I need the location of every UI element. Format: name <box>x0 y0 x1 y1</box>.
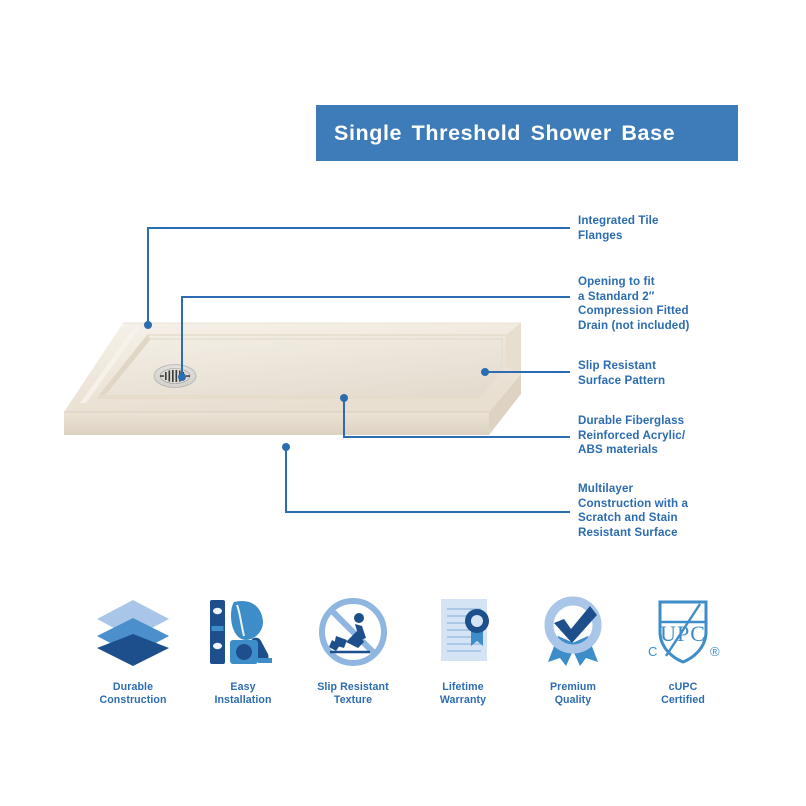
feature-label: Durable Construction <box>99 681 166 707</box>
no-slip-icon <box>314 592 392 672</box>
feature-premium-quality: Premium Quality <box>518 592 628 707</box>
feature-durable-construction: Durable Construction <box>78 592 188 707</box>
certificate-icon <box>424 592 502 672</box>
feature-label: Easy Installation <box>214 681 271 707</box>
feature-label: cUPC Certified <box>661 681 705 707</box>
callout-multilayer-construction: Multilayer Construction with a Scratch a… <box>578 482 688 540</box>
feature-cupc-certified: UPC C ® cUPC Certified <box>628 592 738 707</box>
callout-integrated-tile-flanges: Integrated Tile Flanges <box>578 214 659 243</box>
page-title-banner: Single Threshold Shower Base <box>316 105 738 161</box>
page-title: Single Threshold Shower Base <box>316 121 675 146</box>
feature-label: Premium Quality <box>550 681 596 707</box>
callout-slip-resistant-surface: Slip Resistant Surface Pattern <box>578 359 665 388</box>
shield-left-mark: C <box>648 644 657 659</box>
shield-right-mark: ® <box>710 644 720 659</box>
oval-drain-grate <box>154 365 196 388</box>
feature-easy-installation: Easy Installation <box>188 592 298 707</box>
tools-icon <box>204 592 282 672</box>
layers-icon <box>94 592 172 672</box>
check-rosette-icon <box>534 592 612 672</box>
callout-materials: Durable Fiberglass Reinforced Acrylic/ A… <box>578 414 685 458</box>
shield-text: UPC <box>660 621 706 646</box>
feature-badges-row: Durable Construction <box>78 592 738 717</box>
upc-shield-icon: UPC C ® <box>640 592 726 672</box>
product-illustration <box>55 295 525 480</box>
feature-slip-resistant-texture: Slip Resistant Texture <box>298 592 408 707</box>
base-inner-pan <box>96 335 506 399</box>
callout-drain-opening: Opening to fit a Standard 2″ Compression… <box>578 275 690 333</box>
infographic-page: Single Threshold Shower Base <box>0 0 806 806</box>
feature-label: Slip Resistant Texture <box>317 681 388 707</box>
feature-lifetime-warranty: Lifetime Warranty <box>408 592 518 707</box>
feature-label: Lifetime Warranty <box>440 681 486 707</box>
